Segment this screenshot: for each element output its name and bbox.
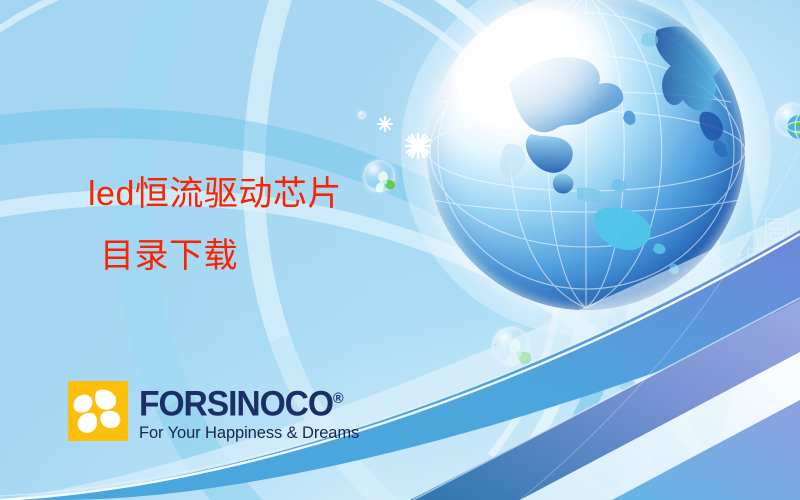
brand-tagline: For Your Happiness & Dreams [139,423,359,443]
earth-globe-icon [427,0,745,310]
headline-line-1: led恒流驱动芯片 [88,163,428,225]
bubble-with-pinwheel-icon [492,327,530,365]
registered-trademark-symbol: ® [333,390,344,407]
bubble-small-icon [358,111,366,119]
four-petal-pinwheel-icon [68,381,128,441]
sparkle-asterisk-icon [377,116,393,132]
logo-lockup: FORSINOCO® For Your Happiness & Dreams [68,381,359,443]
brand-name: FORSINOCO® [139,382,350,422]
logo-wordmark: FORSINOCO® For Your Happiness & Dreams [139,381,359,443]
globe-sphere [427,0,745,310]
headline-line-2: 目录下载 [88,225,428,287]
banner-image: led恒流驱动芯片 目录下载 FORSINOCO® For Your Happi… [0,0,800,500]
globe-rim-light [427,0,745,310]
sparkle-asterisk-icon [405,133,431,159]
page-title: led恒流驱动芯片 目录下载 [88,163,428,287]
